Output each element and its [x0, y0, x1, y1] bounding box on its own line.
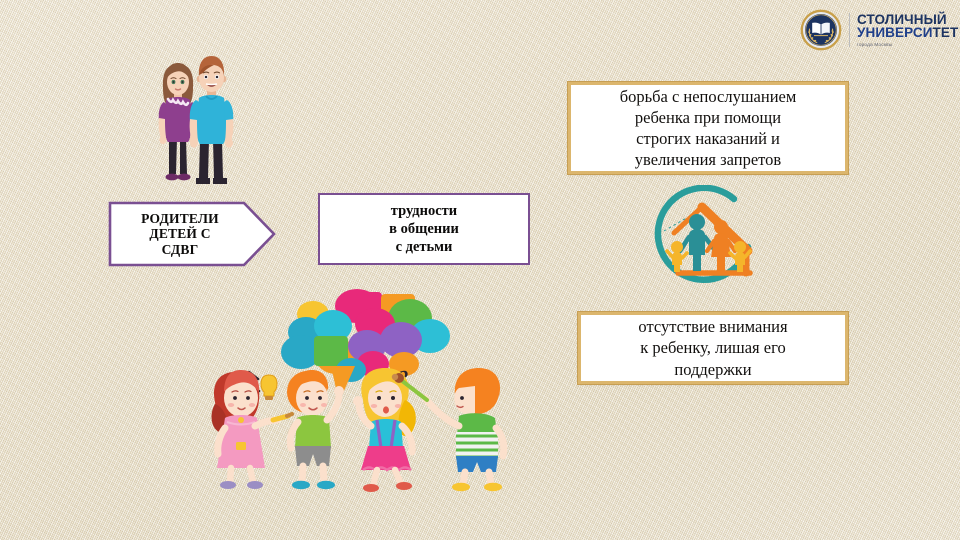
university-emblem-icon — [800, 9, 842, 51]
slide-canvas: СТОЛИЧНЫЙ УНИВЕРСИТЕТ города Москвы — [0, 0, 960, 540]
family-house-graphic — [630, 185, 780, 290]
logo-line-1: СТОЛИЧНЫЙ — [857, 13, 958, 27]
logo-text-block: СТОЛИЧНЫЙ УНИВЕРСИТЕТ города Москвы — [857, 13, 958, 48]
couple-parents-illustration — [128, 50, 260, 190]
logo-divider — [849, 13, 850, 47]
logo-line-2: УНИВЕРСИТЕТ — [857, 26, 958, 40]
arrow-parents-label: РОДИТЕЛИ ДЕТЕЙ С СДВГ — [114, 201, 246, 267]
children-talking-graphic: ? ? — [205, 280, 525, 492]
card-strict-punishment[interactable]: борьба с непослушанием ребенка при помощ… — [568, 82, 848, 174]
card-strict-punishment-text: борьба с непослушанием ребенка при помощ… — [620, 86, 797, 170]
arrow-parents-of-adhd-children[interactable]: РОДИТЕЛИ ДЕТЕЙ С СДВГ — [108, 201, 276, 267]
box-difficulties-label: трудности в общении с детьми — [389, 202, 459, 256]
logo-subline: города Москвы — [857, 43, 958, 47]
child-girl-pink — [212, 370, 292, 489]
card-lack-of-attention[interactable]: отсутствие внимания к ребенку, лишая его… — [578, 312, 848, 384]
family-house-icon — [630, 185, 780, 290]
logo-line-2-tail: ТЕТ — [933, 25, 959, 40]
child-boy-green — [287, 370, 344, 489]
children-talking-illustration: ? ? — [205, 280, 525, 492]
box-communication-difficulties[interactable]: трудности в общении с детьми — [318, 193, 530, 265]
card-lack-of-attention-text: отсутствие внимания к ребенку, лишая его… — [638, 316, 787, 379]
university-logo: СТОЛИЧНЫЙ УНИВЕРСИТЕТ города Москвы — [800, 6, 956, 54]
couple-parents-graphic — [128, 50, 260, 190]
logo-line-2-main: УНИВЕРСИ — [857, 25, 933, 40]
